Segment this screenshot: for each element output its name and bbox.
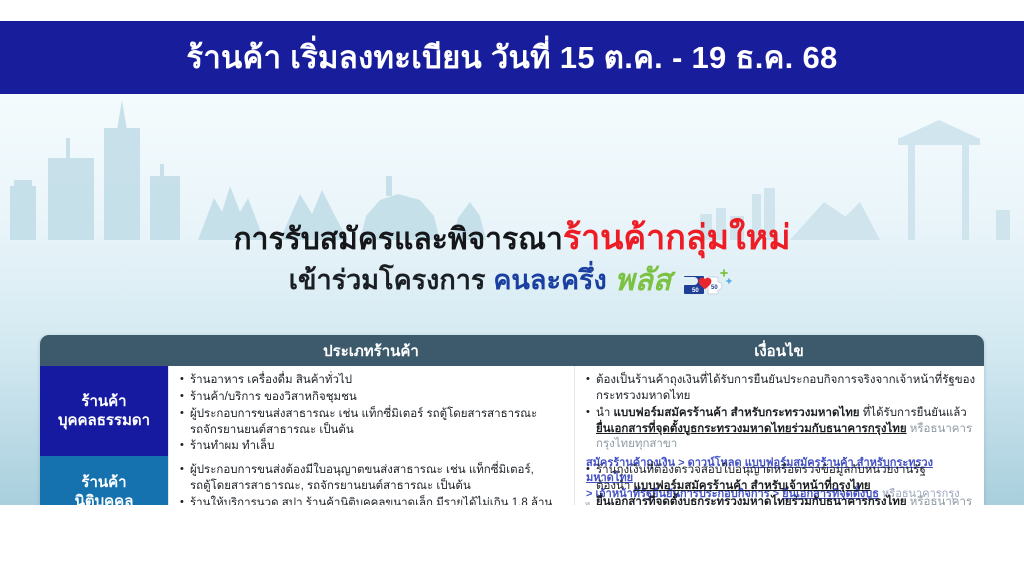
headline-block: การรับสมัครและพิจารณาร้านค้ากลุ่มใหม่ เข… — [0, 220, 1024, 299]
row-label-line: นิติบุคคล — [75, 492, 134, 505]
bullet-text: ร้านให้บริการนวด สปา ร้านค้านิติบุคคลขนา… — [190, 497, 552, 505]
conditions-table: ประเภทร้านค้า เงื่อนไข ร้านค้า บุคคลธรรม… — [40, 335, 984, 505]
row1-condition-bullet-list: ต้องเป็นร้านค้าถุงเงินที่ได้รับการยืนยัน… — [586, 373, 978, 453]
row2-condition-cell: ร้านถุงเงินที่ต้องตรวจสอบใบอนุญาตหรือตรว… — [574, 456, 984, 505]
list-item: นำ แบบฟอร์มสมัครร้านค้า สำหรับกระทรวงมหา… — [586, 406, 978, 454]
row-label-individual-shop: ร้านค้า บุคคลธรรมดา — [40, 366, 168, 456]
table-header-row: ประเภทร้านค้า เงื่อนไข — [40, 335, 984, 366]
bullet-subline-bold: แบบฟอร์มสมัครร้านค้า สำหรับเจ้าหน้าที่กร… — [634, 480, 871, 492]
row-label-line: ร้านค้า — [81, 473, 126, 492]
bullet-text: ผู้ประกอบการขนส่งสาธารณะ เช่น แท็กซี่มิเ… — [190, 408, 537, 420]
list-item: ผู้ประกอบการขนส่งสาธารณะ เช่น แท็กซี่มิเ… — [180, 407, 568, 439]
bullet-text-post: ที่ได้รับการยืนยันแล้ว — [860, 407, 967, 419]
infographic-page: ร้านค้า เริ่มลงทะเบียน วันที่ 15 ต.ค. - … — [0, 0, 1024, 576]
bottom-white-area — [0, 505, 1024, 576]
headline-line2-green: พลัส — [615, 265, 671, 297]
top-white-strip — [0, 0, 1024, 21]
headline-line1-black: การรับสมัครและพิจารณา — [233, 223, 562, 256]
bullet-text: ร้านค้า/บริการ ของวิสาหกิจชุมชน — [190, 391, 357, 403]
row-label-line: บุคคลธรรมดา — [58, 411, 150, 430]
city-skyline-illustration — [0, 94, 1024, 240]
bullet-subline: รถจักรยานยนต์สาธารณะ เป็นต้น — [190, 423, 568, 439]
table-header-spacer — [40, 335, 168, 366]
bullet-text: ร้านอาหาร เครื่องดื่ม สินค้าทั่วไป — [190, 374, 352, 386]
list-item: ร้านค้า/บริการ ของวิสาหกิจชุมชน — [180, 390, 568, 406]
row-label-juristic-shop: ร้านค้า นิติบุคคล หรือธุรกิจเฉพาะ — [40, 456, 168, 505]
list-item: ร้านอาหาร เครื่องดื่ม สินค้าทั่วไป — [180, 373, 568, 389]
bullet-text: ผู้ประกอบการขนส่งต้องมีใบอนุญาตขนส่งสาธา… — [190, 464, 534, 476]
list-item: ร้านให้บริการนวด สปา ร้านค้านิติบุคคลขนา… — [180, 496, 568, 505]
row2-condition-bullet-list: ร้านถุงเงินที่ต้องตรวจสอบใบอนุญาตหรือตรว… — [586, 463, 978, 505]
bullet-text: ต้องเป็นร้านค้าถุงเงินที่ได้รับการยืนยัน… — [596, 374, 975, 402]
bullet-subline-underline: ยื่นเอกสารที่จุดตั้งบูธกระทรวงมหาดไทยร่ว… — [596, 496, 907, 505]
row-label-line: ร้านค้า — [81, 392, 126, 411]
bullet-text-bold: แบบฟอร์มสมัครร้านค้า สำหรับกระทรวงมหาดไท… — [614, 407, 860, 419]
table-row: ร้านค้า นิติบุคคล หรือธุรกิจเฉพาะ ผู้ประ… — [40, 456, 984, 505]
svg-text:50: 50 — [711, 285, 718, 291]
list-item: ร้านทำผม ทำเล็บ — [180, 439, 568, 455]
row1-condition-cell: ต้องเป็นร้านค้าถุงเงินที่ได้รับการยืนยัน… — [574, 366, 984, 456]
list-item: ร้านถุงเงินที่ต้องตรวจสอบใบอนุญาตหรือตรว… — [586, 463, 978, 505]
svg-text:50: 50 — [692, 288, 699, 294]
bullet-subline: ยื่นเอกสารที่จุดตั้งบูธกระทรวงมหาดไทยร่ว… — [596, 422, 978, 454]
content-body: การรับสมัครและพิจารณาร้านค้ากลุ่มใหม่ เข… — [0, 94, 1024, 505]
headline-line-1: การรับสมัครและพิจารณาร้านค้ากลุ่มใหม่ — [0, 220, 1024, 257]
row1-type-cell: ร้านอาหาร เครื่องดื่ม สินค้าทั่วไป ร้านค… — [168, 366, 574, 456]
bullet-text: ร้านทำผม ทำเล็บ — [190, 440, 274, 452]
bullet-subline-pre: ต้องนำ — [596, 480, 634, 492]
table-row: ร้านค้า บุคคลธรรมดา ร้านอาหาร เครื่องดื่… — [40, 366, 984, 456]
headline-line2-dark: เข้าร่วมโครงการ — [289, 266, 486, 295]
headline-line-2: เข้าร่วมโครงการ คนละครึ่ง พลัส 50 50 — [0, 263, 1024, 299]
headline-line1-red: ร้านค้ากลุ่มใหม่ — [563, 219, 791, 257]
row2-type-bullet-list: ผู้ประกอบการขนส่งต้องมีใบอนุญาตขนส่งสาธา… — [180, 463, 568, 505]
bullet-subline: รถตู้โดยสารสาธารณะ, รถจักรยานยนต์สาธารณะ… — [190, 479, 568, 495]
khonlakhrueng-plus-logo-icon: 50 50 — [679, 265, 735, 301]
bullet-subline: ยื่นเอกสารที่จุดตั้งบูธกระทรวงมหาดไทยร่ว… — [596, 495, 978, 505]
bullet-subline-underline: ยื่นเอกสารที่จุดตั้งบูธกระทรวงมหาดไทยร่ว… — [596, 423, 907, 435]
bullet-subline: ต้องนำ แบบฟอร์มสมัครร้านค้า สำหรับเจ้าหน… — [596, 479, 978, 495]
row1-type-bullet-list: ร้านอาหาร เครื่องดื่ม สินค้าทั่วไป ร้านค… — [180, 373, 568, 455]
row2-type-cell: ผู้ประกอบการขนส่งต้องมีใบอนุญาตขนส่งสาธา… — [168, 456, 574, 505]
headline-line2-blue: คนละครึ่ง — [493, 266, 606, 295]
list-item: ผู้ประกอบการขนส่งต้องมีใบอนุญาตขนส่งสาธา… — [180, 463, 568, 495]
column-header-type: ประเภทร้านค้า — [168, 335, 574, 366]
list-item: ต้องเป็นร้านค้าถุงเงินที่ได้รับการยืนยัน… — [586, 373, 978, 405]
column-header-condition: เงื่อนไข — [574, 335, 984, 366]
header-banner-title: ร้านค้า เริ่มลงทะเบียน วันที่ 15 ต.ค. - … — [186, 42, 837, 73]
bullet-text: ร้านถุงเงินที่ต้องตรวจสอบใบอนุญาตหรือตรว… — [596, 464, 926, 476]
bullet-text-pre: นำ — [596, 407, 614, 419]
header-banner: ร้านค้า เริ่มลงทะเบียน วันที่ 15 ต.ค. - … — [0, 21, 1024, 94]
